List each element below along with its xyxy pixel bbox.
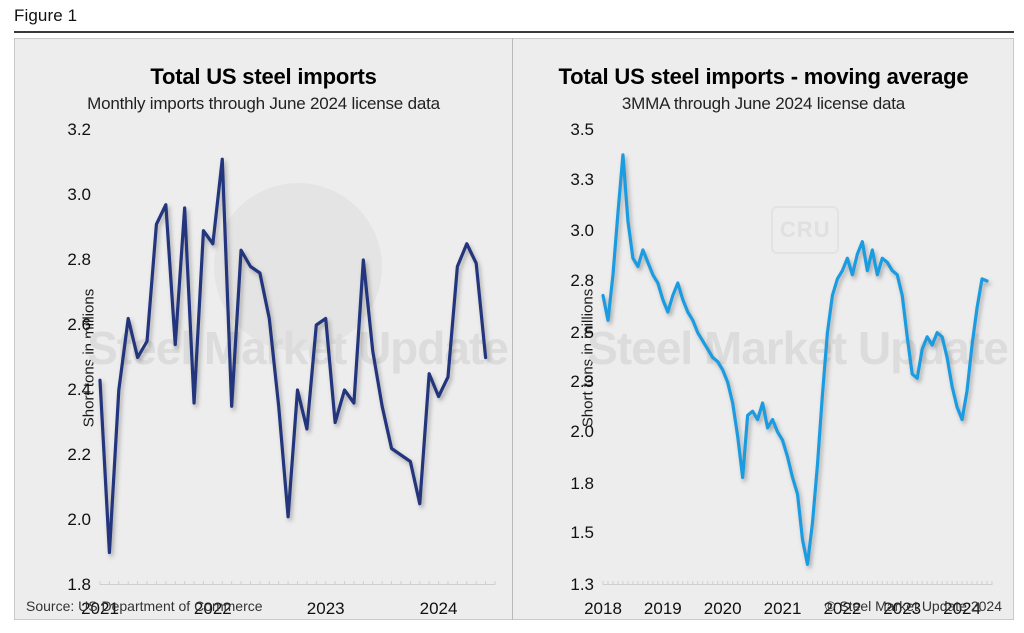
y-tick-right-0: 1.3 [570,575,594,595]
y-tick-right-1: 1.5 [570,523,594,543]
y-tick-left-0: 1.8 [67,575,91,595]
plot-area-left: Steel Market Update 1.82.02.22.42.62.83.… [100,130,495,585]
series-line-right [603,130,992,585]
y-tick-left-7: 3.2 [67,120,91,140]
y-tick-right-8: 3.3 [570,170,594,190]
series-line-left [100,130,495,585]
y-tick-right-6: 2.8 [570,271,594,291]
footer-source: Source: US Department of Commerce [26,598,263,614]
y-tick-right-3: 2.0 [570,422,594,442]
chart-total-us-steel-imports: Total US steel imports Monthly imports t… [14,38,513,593]
y-tick-left-2: 2.2 [67,445,91,465]
y-tick-left-1: 2.0 [67,510,91,530]
footer-copyright: © Steel Market Update 2024 [825,598,1002,614]
y-axis-label-left: Short tons in millions [81,288,98,426]
plot-wrapper-left: Short tons in millions Steel Market Upda… [14,130,513,585]
chart-title-right: Total US steel imports - moving average [513,64,1014,90]
y-tick-right-7: 3.0 [570,221,594,241]
figure-footer: Source: US Department of Commerce © Stee… [14,593,1014,620]
x-axis-line-left [100,584,495,585]
footer-divider [512,593,513,620]
y-tick-right-4: 2.3 [570,372,594,392]
figure-rule [14,31,1014,33]
y-axis-label-right: Short tons in millions [580,288,597,426]
y-tick-left-4: 2.6 [67,315,91,335]
chart-title-left: Total US steel imports [14,64,513,90]
plot-wrapper-right: Short tons in millions Steel Market Upda… [513,130,1014,585]
figure-caption: Figure 1 [14,6,77,26]
chart-subtitle-left: Monthly imports through June 2024 licens… [14,94,513,114]
y-tick-left-3: 2.4 [67,380,91,400]
plot-area-right: Steel Market Update CRU 1.31.51.82.02.32… [603,130,992,585]
y-tick-left-5: 2.8 [67,250,91,270]
y-tick-right-9: 3.5 [570,120,594,140]
y-tick-right-2: 1.8 [570,474,594,494]
y-tick-right-5: 2.5 [570,323,594,343]
chart-total-us-steel-imports-moving-average: Total US steel imports - moving average … [513,38,1014,593]
figure-page: Figure 1 Total US steel imports Monthly … [0,0,1024,633]
y-tick-left-6: 3.0 [67,185,91,205]
chart-subtitle-right: 3MMA through June 2024 license data [513,94,1014,114]
x-axis-line-right [603,584,992,585]
